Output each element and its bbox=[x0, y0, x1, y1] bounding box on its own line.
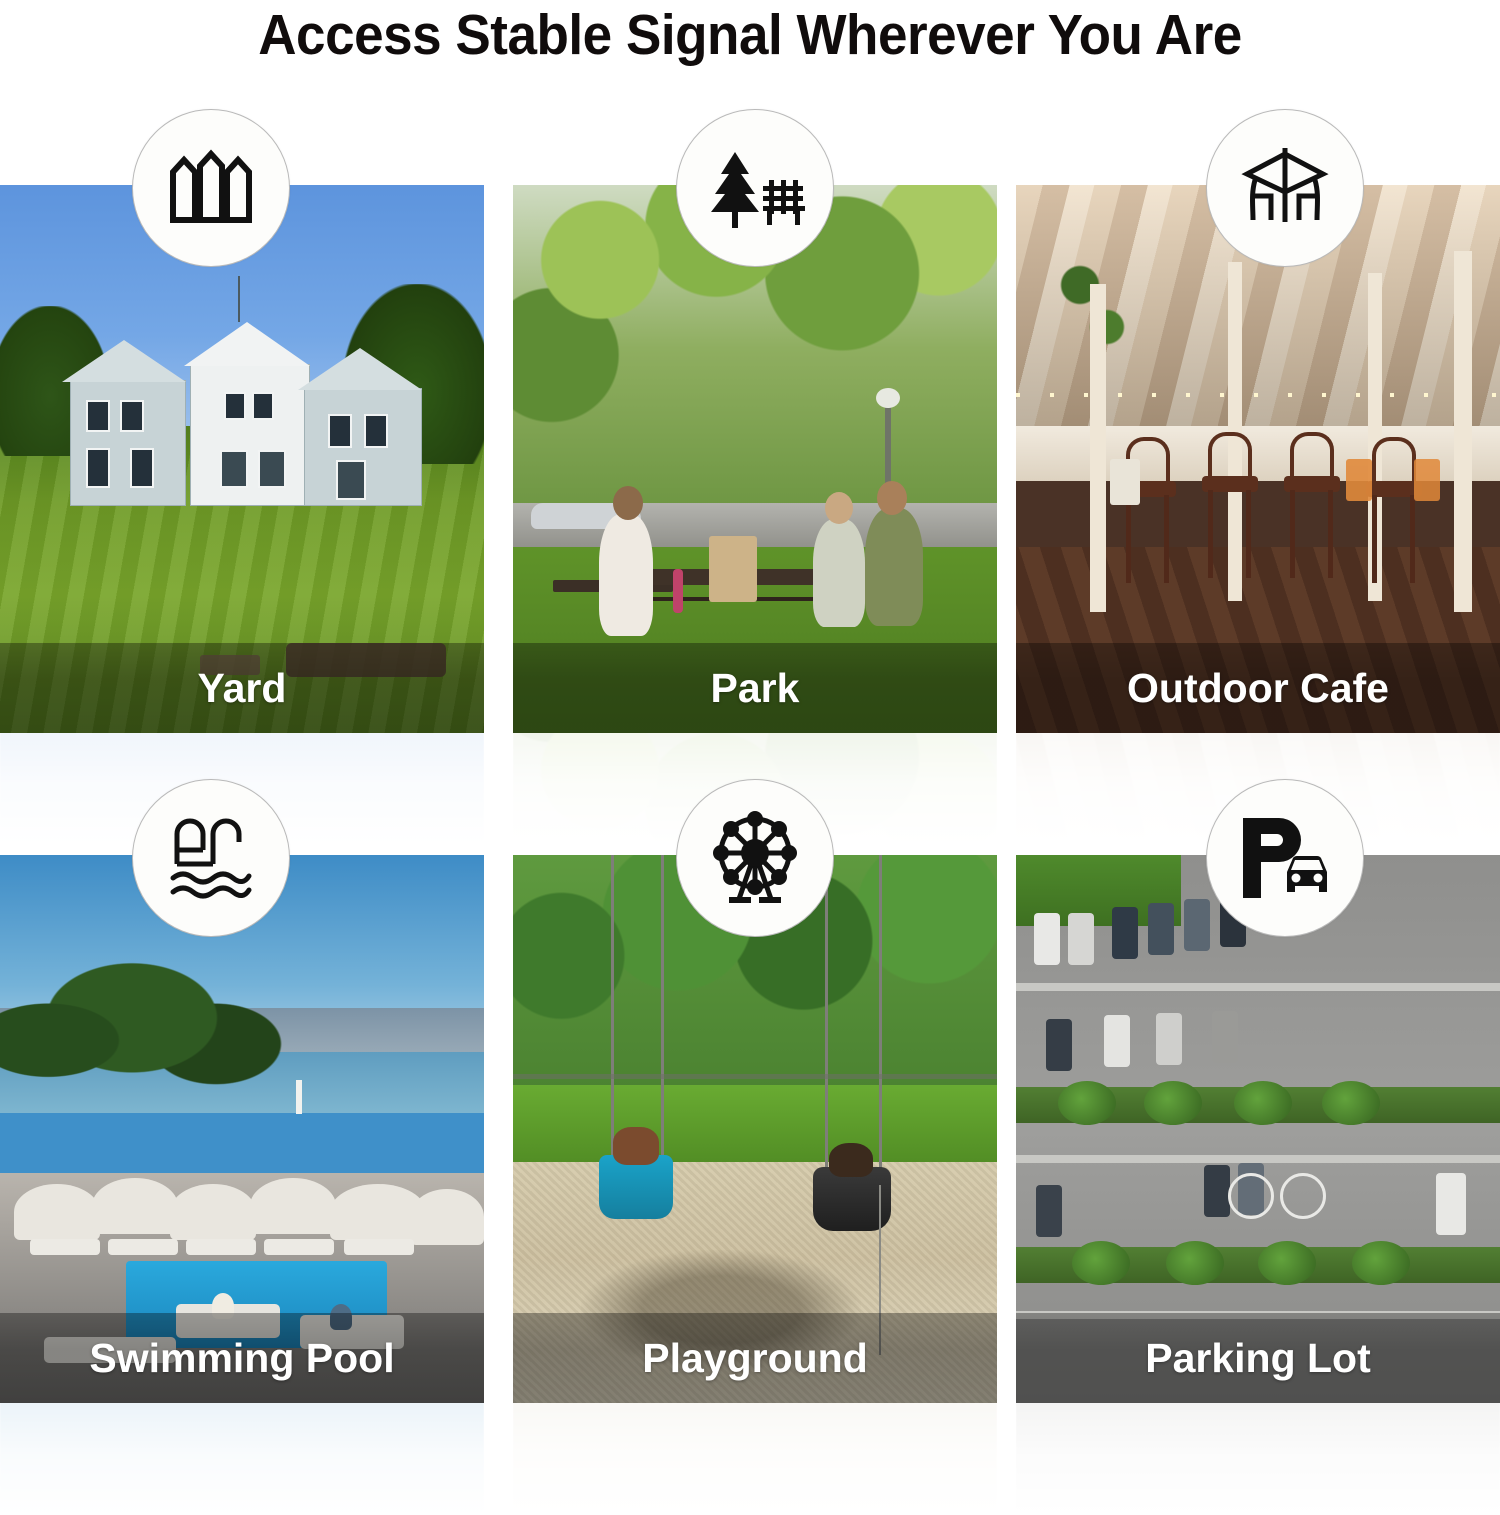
page-title: Access Stable Signal Wherever You Are bbox=[53, 2, 1448, 68]
park-caption: Park bbox=[711, 665, 800, 712]
playground-caption-band: Playground bbox=[513, 1313, 997, 1403]
parking-p-with-car-icon bbox=[1235, 810, 1335, 906]
swimming-pool-reflection bbox=[0, 1403, 484, 1515]
yard-caption: Yard bbox=[198, 665, 287, 712]
scenario-tile-playground[interactable]: Playground bbox=[513, 855, 997, 1403]
park-caption-band: Park bbox=[513, 643, 997, 733]
ferris-wheel-icon-badge[interactable] bbox=[676, 779, 834, 937]
outdoor-cafe-caption-band: Outdoor Cafe bbox=[1016, 643, 1500, 733]
outdoor-cafe-caption: Outdoor Cafe bbox=[1127, 665, 1389, 712]
outdoor-cafe-photo: Outdoor Cafe bbox=[1016, 185, 1500, 733]
yard-photo: Yard bbox=[0, 185, 484, 733]
parasol-with-chairs-icon-badge[interactable] bbox=[1206, 109, 1364, 267]
parking-lot-reflection bbox=[1016, 1403, 1500, 1515]
parking-lot-caption: Parking Lot bbox=[1145, 1335, 1371, 1382]
tree-and-bench-icon bbox=[705, 140, 805, 236]
parasol-with-chairs-icon bbox=[1235, 140, 1335, 236]
scenario-grid: Yard bbox=[0, 185, 1500, 1475]
playground-photo: Playground bbox=[513, 855, 997, 1403]
swimming-pool-caption-band: Swimming Pool bbox=[0, 1313, 484, 1403]
ferris-wheel-icon bbox=[705, 809, 805, 907]
scenario-tile-swimming-pool[interactable]: Swimming Pool bbox=[0, 855, 484, 1403]
scenario-tile-outdoor-cafe[interactable]: Outdoor Cafe bbox=[1016, 185, 1500, 733]
yard-caption-band: Yard bbox=[0, 643, 484, 733]
playground-caption: Playground bbox=[642, 1335, 868, 1382]
swimming-pool-caption: Swimming Pool bbox=[89, 1335, 394, 1382]
pool-ladder-waves-icon bbox=[161, 810, 261, 906]
scenario-tile-parking-lot[interactable]: Parking Lot bbox=[1016, 855, 1500, 1403]
scenario-tile-yard[interactable]: Yard bbox=[0, 185, 484, 733]
playground-reflection bbox=[513, 1403, 997, 1515]
picket-fence-icon bbox=[163, 140, 259, 236]
swimming-pool-photo: Swimming Pool bbox=[0, 855, 484, 1403]
parking-lot-photo: Parking Lot bbox=[1016, 855, 1500, 1403]
park-photo: Park bbox=[513, 185, 997, 733]
scenario-tile-park[interactable]: Park bbox=[513, 185, 997, 733]
parking-p-with-car-icon-badge[interactable] bbox=[1206, 779, 1364, 937]
picket-fence-icon-badge[interactable] bbox=[132, 109, 290, 267]
tree-and-bench-icon-badge[interactable] bbox=[676, 109, 834, 267]
parking-lot-caption-band: Parking Lot bbox=[1016, 1313, 1500, 1403]
pool-ladder-waves-icon-badge[interactable] bbox=[132, 779, 290, 937]
